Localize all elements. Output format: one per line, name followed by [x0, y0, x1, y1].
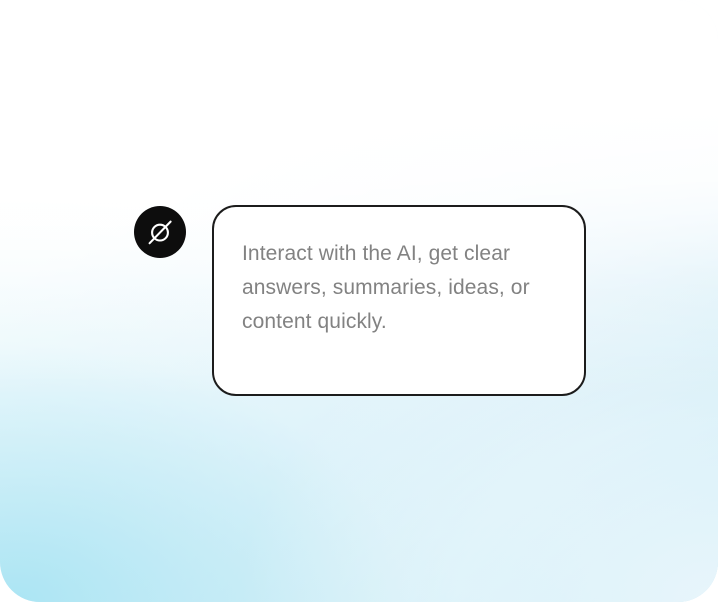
assistant-avatar [134, 206, 186, 258]
assistant-message-row: Interact with the AI, get clear answers,… [134, 205, 586, 396]
assistant-message-text: Interact with the AI, get clear answers,… [242, 237, 558, 339]
circle-slash-icon [145, 217, 175, 247]
app-canvas: Interact with the AI, get clear answers,… [0, 0, 718, 602]
assistant-message-bubble: Interact with the AI, get clear answers,… [212, 205, 586, 396]
